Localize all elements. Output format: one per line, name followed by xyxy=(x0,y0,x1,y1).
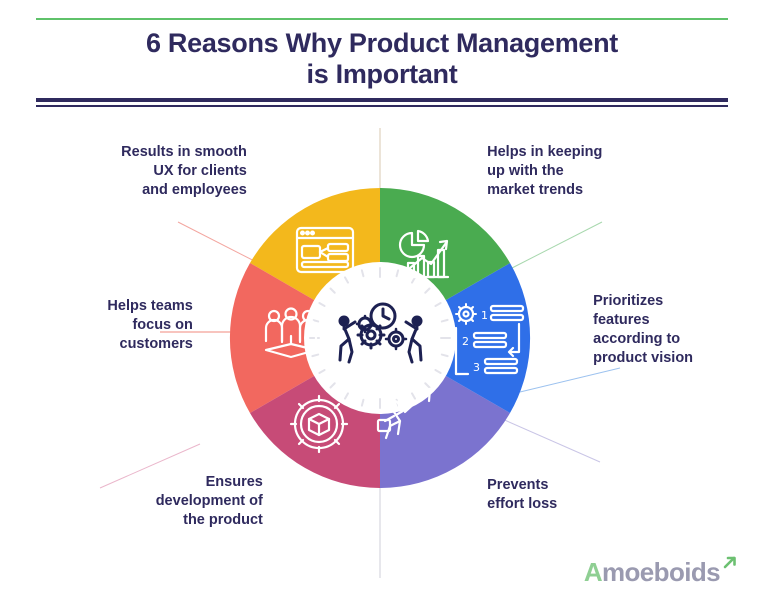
callout-4-number: 4 xyxy=(536,301,579,359)
header-rule-bottom-thick xyxy=(36,98,728,102)
logo-wordmark: moeboids xyxy=(602,557,720,588)
svg-text:3: 3 xyxy=(473,361,480,374)
logo-arrow-icon xyxy=(722,547,738,578)
callout-6-label: Ensures development of the product xyxy=(156,473,263,530)
callout-2-number: 2 xyxy=(261,142,304,200)
page-title: 6 Reasons Why Product Management is Impo… xyxy=(0,28,764,90)
gear-box-product-icon xyxy=(291,396,347,452)
callout-3-label: Helps in keeping up with the market tren… xyxy=(487,143,602,200)
callout-3-number: 3 xyxy=(430,142,473,200)
chart-growth-icon xyxy=(400,231,448,277)
wireframe-window-icon xyxy=(297,228,353,272)
teamwork-gears-clock-icon xyxy=(339,304,423,362)
callout-1[interactable]: Helps teams focus on customers 1 xyxy=(40,296,250,354)
connector-4 xyxy=(520,368,620,392)
callout-5[interactable]: 5 Prevents effort loss xyxy=(430,466,660,524)
users-group-icon xyxy=(266,309,316,358)
connector-2 xyxy=(178,222,268,268)
page-title-line-2: is Important xyxy=(0,59,764,90)
callout-6[interactable]: Ensures development of the product 6 xyxy=(94,472,320,530)
callout-4[interactable]: 4 Prioritizes features according to prod… xyxy=(536,292,764,368)
callout-2-label: Results in smooth UX for clients and emp… xyxy=(121,143,247,200)
connector-3 xyxy=(512,222,602,268)
svg-text:2: 2 xyxy=(462,335,469,348)
donut-segments xyxy=(230,188,530,488)
amoeboids-logo[interactable]: A moeboids xyxy=(584,547,738,588)
priority-list-gear-icon: 1 2 3 xyxy=(456,304,523,374)
callout-1-number: 1 xyxy=(207,296,250,354)
callout-5-number: 5 xyxy=(430,466,473,524)
connector-5 xyxy=(500,418,600,462)
callout-4-label: Prioritizes features according to produc… xyxy=(593,292,693,368)
runner-arrow-icon xyxy=(378,389,430,438)
logo-letter-a: A xyxy=(584,557,602,588)
header-rule-top xyxy=(36,18,728,20)
clock-face-ticks xyxy=(310,268,450,408)
center-hub xyxy=(304,262,456,414)
callout-2[interactable]: Results in smooth UX for clients and emp… xyxy=(68,142,304,200)
callout-3[interactable]: 3 Helps in keeping up with the market tr… xyxy=(430,142,680,200)
header-rule-bottom-thin xyxy=(36,105,728,107)
page-title-line-1: 6 Reasons Why Product Management xyxy=(146,28,618,58)
svg-text:1: 1 xyxy=(481,309,488,322)
callout-6-number: 6 xyxy=(277,472,320,530)
callout-1-label: Helps teams focus on customers xyxy=(107,297,192,354)
segment-4-right xyxy=(445,263,530,413)
callout-5-label: Prevents effort loss xyxy=(487,476,557,514)
